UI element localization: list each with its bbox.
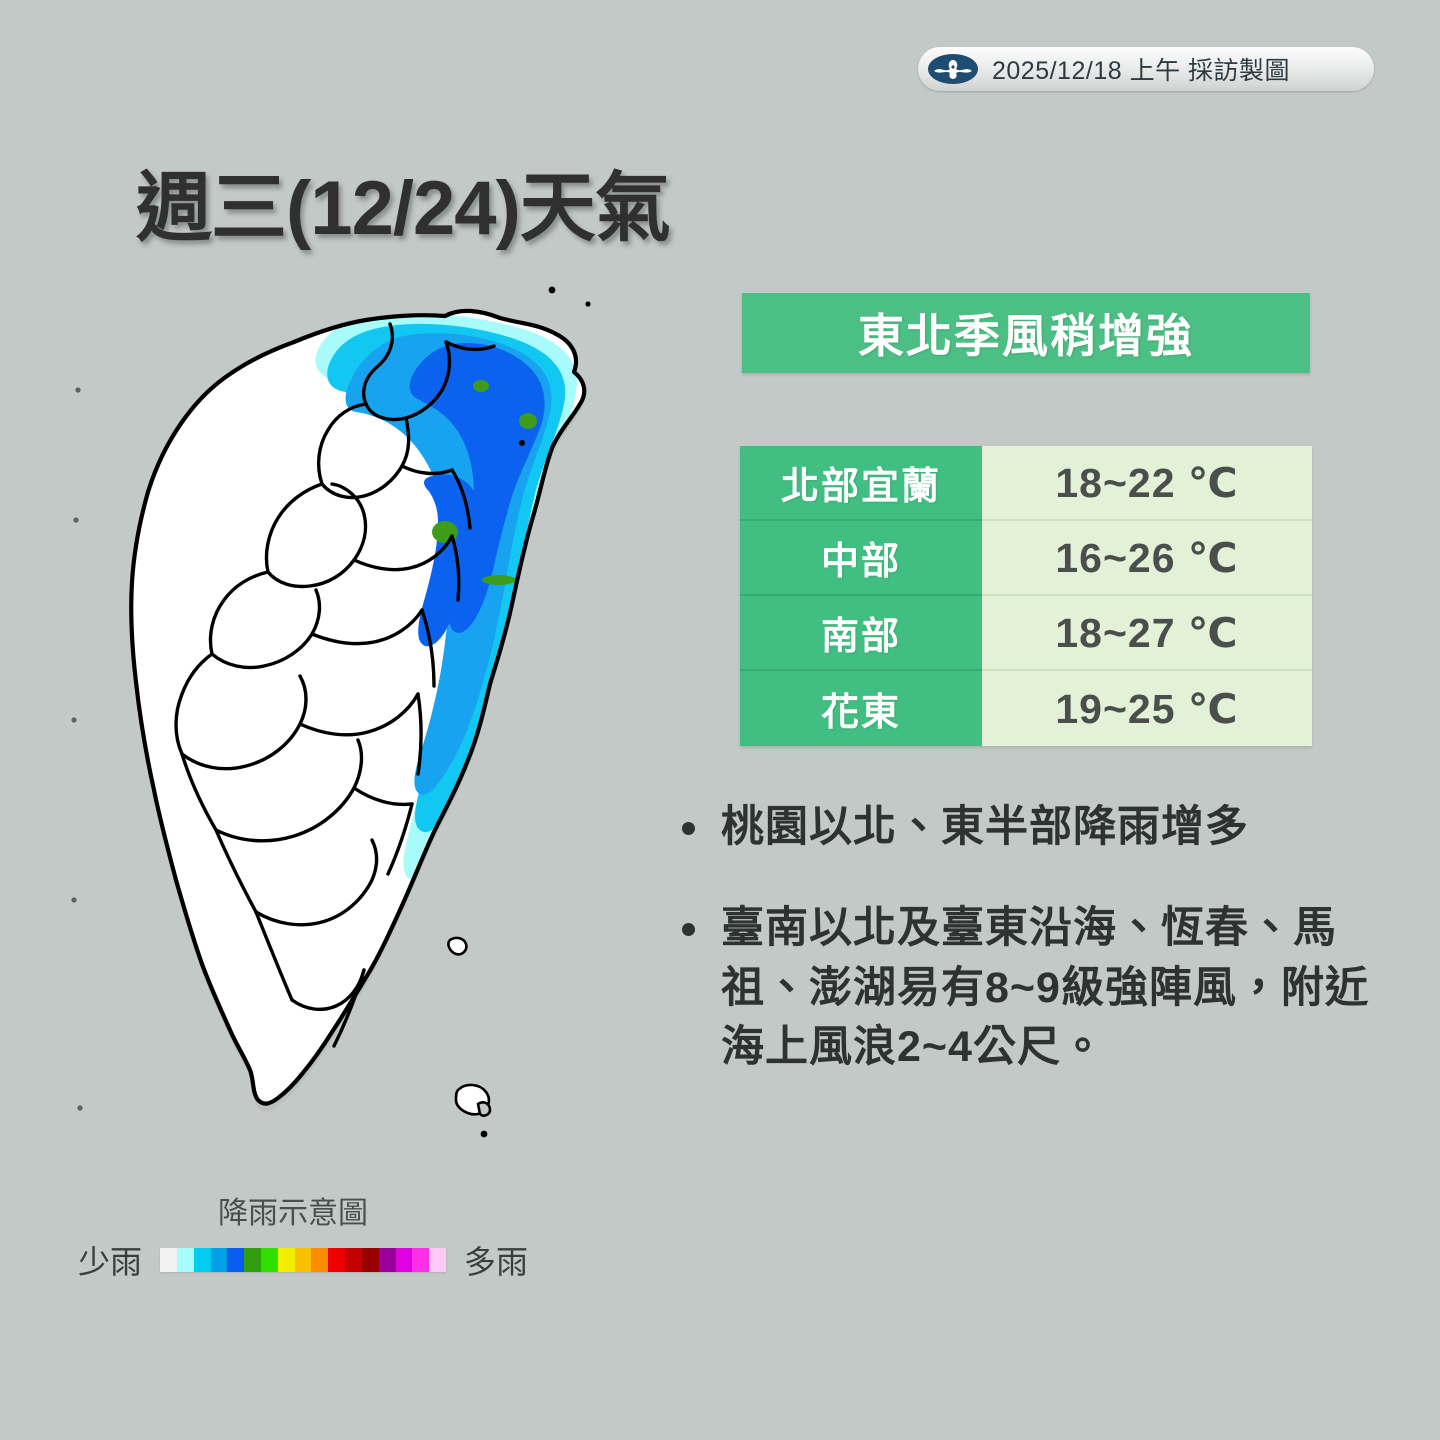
taiwan-rainfall-map	[60, 280, 680, 1180]
table-row: 花東19~25 ℃	[740, 671, 1312, 746]
legend-swatch-5	[244, 1248, 261, 1272]
temperature-range: 18~27 ℃	[1055, 609, 1238, 657]
legend-swatch-14	[396, 1248, 413, 1272]
legend-swatch-7	[278, 1248, 295, 1272]
table-row: 北部宜蘭18~22 ℃	[740, 446, 1312, 521]
legend-swatch-6	[261, 1248, 278, 1272]
legend-swatch-3	[211, 1248, 228, 1272]
region-label: 北部宜蘭	[781, 455, 941, 510]
legend-swatch-2	[194, 1248, 211, 1272]
legend-swatch-15	[412, 1248, 429, 1272]
legend-high-label: 多雨	[464, 1237, 528, 1283]
legend-swatch-9	[311, 1248, 328, 1272]
wind-wave-logo-icon	[928, 54, 978, 84]
legend-swatch-8	[295, 1248, 312, 1272]
bullet-dot-icon	[682, 923, 695, 936]
legend-swatch-16	[429, 1248, 446, 1272]
weather-headline-banner: 東北季風稍增強	[742, 293, 1310, 373]
infographic-canvas: 2025/12/18 上午 採訪製圖 週三(12/24)天氣	[0, 0, 1440, 1440]
table-row: 中部16~26 ℃	[740, 521, 1312, 596]
legend-title: 降雨示意圖	[218, 1188, 368, 1232]
temperature-cell: 18~22 ℃	[982, 446, 1312, 521]
legend-swatch-0	[160, 1248, 177, 1272]
temperature-range: 19~25 ℃	[1055, 685, 1238, 733]
rainfall-legend: 少雨 多雨	[78, 1237, 528, 1283]
table-row: 南部18~27 ℃	[740, 596, 1312, 671]
forecast-bullet-list: 桃園以北、東半部降雨增多臺南以北及臺東沿海、恆春、馬祖、澎湖易有8~9級強陣風，…	[682, 798, 1372, 1119]
temperature-cell: 19~25 ℃	[982, 671, 1312, 746]
bullet-text: 臺南以北及臺東沿海、恆春、馬祖、澎湖易有8~9級強陣風，附近海上風浪2~4公尺。	[721, 899, 1372, 1077]
legend-low-label: 少雨	[78, 1237, 142, 1283]
page-title: 週三(12/24)天氣	[136, 146, 670, 256]
region-label: 花東	[821, 681, 901, 736]
temperature-cell: 16~26 ℃	[982, 521, 1312, 596]
source-timestamp-badge: 2025/12/18 上午 採訪製圖	[918, 47, 1374, 91]
region-cell: 中部	[740, 521, 982, 596]
region-cell: 南部	[740, 596, 982, 671]
region-label: 中部	[821, 530, 901, 585]
legend-color-bar	[160, 1248, 446, 1272]
legend-swatch-12	[362, 1248, 379, 1272]
legend-swatch-4	[227, 1248, 244, 1272]
legend-swatch-1	[177, 1248, 194, 1272]
legend-swatch-10	[328, 1248, 345, 1272]
legend-swatch-13	[379, 1248, 396, 1272]
temperature-range: 18~22 ℃	[1055, 459, 1238, 507]
list-item: 臺南以北及臺東沿海、恆春、馬祖、澎湖易有8~9級強陣風，附近海上風浪2~4公尺。	[682, 899, 1372, 1077]
list-item: 桃園以北、東半部降雨增多	[682, 798, 1372, 857]
temperature-cell: 18~27 ℃	[982, 596, 1312, 671]
weather-headline-text: 東北季風稍增強	[858, 300, 1194, 366]
temperature-range: 16~26 ℃	[1055, 534, 1238, 582]
region-label: 南部	[821, 605, 901, 660]
bullet-dot-icon	[682, 822, 695, 835]
region-cell: 花東	[740, 671, 982, 746]
bullet-text: 桃園以北、東半部降雨增多	[721, 798, 1249, 857]
region-cell: 北部宜蘭	[740, 446, 982, 521]
timestamp-label: 2025/12/18 上午 採訪製圖	[992, 51, 1290, 87]
temperature-table: 北部宜蘭18~22 ℃中部16~26 ℃南部18~27 ℃花東19~25 ℃	[740, 446, 1312, 746]
legend-swatch-11	[345, 1248, 362, 1272]
